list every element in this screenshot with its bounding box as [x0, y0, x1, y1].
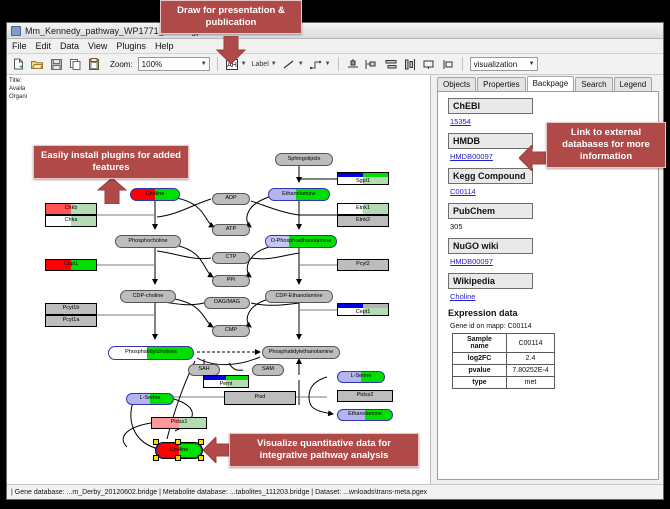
node-label: Phosphatidylcholines	[125, 350, 177, 356]
menu-data[interactable]: Data	[60, 41, 79, 51]
align-top-icon[interactable]	[346, 57, 360, 71]
menu-view[interactable]: View	[88, 41, 107, 51]
node-label: Chka	[65, 218, 78, 224]
metabolite-node-l-serine[interactable]: L-Serine	[337, 371, 385, 383]
metabolite-node-choline[interactable]: Choline	[130, 188, 180, 201]
tab-search[interactable]: Search	[575, 77, 612, 91]
table-row: typemet	[453, 377, 555, 389]
node-label: CTP	[226, 255, 237, 261]
expression-value: met	[507, 377, 555, 389]
visualization-value: visualization	[474, 60, 518, 69]
metabolite-node-adp[interactable]: ADP	[212, 193, 250, 205]
node-label: Phosphatidylethanolamine	[269, 350, 334, 356]
database-value-kegg-compound[interactable]: C00114	[450, 187, 658, 196]
node-label: Pcyt2	[356, 262, 370, 268]
metabolite-node-o-phosphoethanolamine[interactable]: O-Phosphoethanolamine	[265, 235, 337, 248]
callout-external-links: Link to external databases for more info…	[546, 122, 666, 168]
menu-file[interactable]: File	[12, 41, 27, 51]
metabolite-node-ppi[interactable]: PPi	[212, 275, 250, 287]
align-left-icon[interactable]	[365, 57, 379, 71]
line-tool-dropdown-icon[interactable]: ▼	[298, 61, 304, 67]
expression-value: C00114	[507, 334, 555, 353]
label-tool-label[interactable]: Label	[252, 61, 269, 68]
node-label: Sgpl1	[356, 179, 370, 185]
node-label: Chkb	[65, 206, 78, 212]
database-header-chebi: ChEBI	[448, 98, 533, 114]
node-label: Cept1	[356, 310, 371, 316]
node-label: O-Phosphoethanolamine	[271, 239, 332, 245]
table-row: log2FC2.4	[453, 353, 555, 365]
node-label: Sphingolipids	[288, 157, 321, 163]
metabolite-node-sphingolipids[interactable]: Sphingolipids	[275, 153, 333, 166]
database-header-nugo-wiki: NuGO wiki	[448, 238, 533, 254]
zoom-combobox[interactable]: 100% ▼	[138, 57, 210, 71]
visualization-combobox[interactable]: visualization ▼	[470, 57, 538, 71]
expression-data-heading: Expression data	[448, 308, 658, 318]
gene-node-etnk1[interactable]: Etnk1	[337, 203, 389, 215]
gene-node-chka[interactable]: Chka	[45, 215, 97, 227]
node-label: CDP-Ethanolamine	[275, 294, 322, 300]
zoom-value: 100%	[142, 60, 162, 69]
tab-properties[interactable]: Properties	[477, 77, 525, 91]
meta-label-availab: Availa	[9, 85, 27, 93]
open-folder-icon[interactable]	[30, 57, 44, 71]
status-bar: | Gene database: ...m_Derby_20120602.bri…	[7, 484, 663, 499]
menu-plugins[interactable]: Plugins	[116, 41, 146, 51]
selection-handle[interactable]	[153, 439, 159, 445]
expression-value: 7.80252E-4	[507, 365, 555, 377]
tab-backpage[interactable]: Backpage	[527, 76, 575, 91]
node-label: Pisd	[255, 395, 266, 401]
node-label: Ethanolamine	[282, 192, 316, 198]
gene-node-chpt1[interactable]: Chpt1	[45, 259, 97, 271]
callout-plugins: Easily install plugins for added feature…	[33, 145, 189, 179]
table-row: Sample nameC00114	[453, 334, 555, 353]
node-label: Choline	[146, 192, 165, 198]
tab-legend[interactable]: Legend	[614, 77, 653, 91]
menu-help[interactable]: Help	[155, 41, 174, 51]
gene-node-cept1[interactable]: Cept1	[337, 303, 389, 316]
callout-draw-publication: Draw for presentation & publication	[160, 0, 302, 34]
metabolite-node-ethanolamine[interactable]: Ethanolamine	[337, 409, 393, 421]
metabolite-node-ctp[interactable]: CTP	[212, 252, 250, 264]
metabolite-node-cmp[interactable]: CMP	[212, 325, 250, 337]
metabolite-node-dag-mag[interactable]: DAG/MAG	[204, 297, 250, 309]
expression-data-table: Sample nameC00114log2FC2.4pvalue7.80252E…	[452, 333, 555, 389]
zoom-label: Zoom:	[110, 60, 133, 69]
expression-key: Sample name	[453, 334, 507, 353]
selection-handle[interactable]	[175, 439, 181, 445]
gene-node-databar	[204, 376, 248, 380]
copy-icon[interactable]	[68, 57, 82, 71]
gene-node-databar	[338, 304, 388, 308]
node-label: SAH	[198, 367, 209, 373]
callout-visualize: Visualize quantitative data for integrat…	[229, 433, 419, 467]
meta-label-title: Title:	[9, 77, 27, 85]
connector-tool-icon[interactable]	[309, 57, 323, 71]
metabolite-node-phosphatidylethanolamine[interactable]: Phosphatidylethanolamine	[262, 346, 340, 359]
callout-plugins-arrow	[97, 178, 127, 209]
tab-objects[interactable]: Objects	[437, 77, 476, 91]
gene-node-etnk2[interactable]: Etnk2	[337, 215, 389, 227]
node-label: Etnk2	[356, 218, 370, 224]
metabolite-node-l-serine[interactable]: L-Serine	[126, 393, 174, 405]
gene-id-on-mapp: Gene id on mapp: C00114	[450, 323, 658, 330]
menu-edit[interactable]: Edit	[36, 41, 52, 51]
metabolite-node-atp[interactable]: ATP	[212, 224, 250, 236]
gene-node-ptdss1[interactable]: Ptdss1	[151, 417, 207, 429]
metabolite-node-sam[interactable]: SAM	[252, 364, 284, 376]
application-window: Mm_Kennedy_pathway_WP1771_45176.gpml Fil…	[6, 22, 664, 500]
node-label: ADP	[225, 196, 236, 202]
gene-node-pcyt1b[interactable]: Pcyt1b	[45, 303, 97, 315]
database-value-pubchem: 305	[450, 222, 658, 231]
node-label: SAM	[262, 367, 274, 373]
database-value-nugo-wiki[interactable]: HMDB00097	[450, 257, 658, 266]
database-header-pubchem: PubChem	[448, 203, 533, 219]
node-label: CDP-choline	[133, 294, 164, 300]
expression-key: log2FC	[453, 353, 507, 365]
pathway-meta-labels: Title: Availa Organi	[9, 77, 27, 101]
database-header-wikipedia: Wikipedia	[448, 273, 533, 289]
status-text: | Gene database: ...m_Derby_20120602.bri…	[11, 489, 427, 496]
label-tool-dropdown-icon[interactable]: ▼	[271, 61, 277, 67]
database-value-wikipedia[interactable]: Choline	[450, 292, 658, 301]
toolbar-separator-3	[462, 57, 463, 71]
node-label: Phosphocholine	[128, 239, 167, 245]
callout-external-links-arrow	[519, 145, 549, 176]
node-label: ATP	[226, 227, 236, 233]
chevron-down-icon-2: ▼	[529, 61, 535, 67]
expression-value: 2.4	[507, 353, 555, 365]
node-label: L-Serine	[351, 374, 372, 380]
node-label: CMP	[225, 328, 237, 334]
gene-node-pisd[interactable]: Pisd	[224, 391, 296, 405]
metabolite-node-cdp-choline[interactable]: CDP-choline	[120, 290, 176, 303]
selection-handle[interactable]	[175, 455, 181, 461]
node-label: Pcyt1a	[63, 318, 80, 324]
gene-node-ptdss2[interactable]: Ptdss2	[337, 390, 393, 402]
node-label: DAG/MAG	[214, 300, 240, 306]
expression-key: type	[453, 377, 507, 389]
gene-node-sgpl1[interactable]: Sgpl1	[337, 172, 389, 185]
paste-icon[interactable]	[87, 57, 101, 71]
line-tool-icon[interactable]	[282, 57, 296, 71]
gene-node-pemt[interactable]: Pemt	[203, 375, 249, 388]
node-label: Chpt1	[64, 262, 79, 268]
metabolite-node-ethanolamine[interactable]: Ethanolamine	[268, 188, 330, 201]
metabolite-node-phosphocholine[interactable]: Phosphocholine	[115, 235, 181, 248]
title-bar: Mm_Kennedy_pathway_WP1771_45176.gpml	[7, 23, 663, 39]
stack-icon[interactable]	[441, 57, 455, 71]
gene-node-pcyt2[interactable]: Pcyt2	[337, 259, 389, 271]
new-file-icon[interactable]	[11, 57, 25, 71]
node-label: L-Serine	[140, 396, 161, 402]
callout-draw-arrow	[216, 36, 246, 69]
metabolite-node-phosphatidylcholines[interactable]: Phosphatidylcholines	[108, 346, 194, 360]
node-label: PPi	[227, 278, 236, 284]
metabolite-node-cdp-ethanolamine[interactable]: CDP-Ethanolamine	[265, 290, 333, 303]
menu-bar: File Edit Data View Plugins Help	[7, 39, 663, 54]
pathway-canvas[interactable]: Title: Availa Organi	[7, 75, 431, 484]
app-icon	[11, 26, 21, 36]
tool-bar: Zoom: 100% ▼ AH ▼ Label ▼ ▼ ▼	[7, 54, 663, 75]
chevron-down-icon: ▼	[201, 61, 207, 67]
gene-node-databar	[338, 173, 388, 177]
distribute-vertical-icon[interactable]	[384, 57, 398, 71]
gene-node-pcyt1a[interactable]: Pcyt1a	[45, 315, 97, 327]
save-icon[interactable]	[49, 57, 63, 71]
gene-node-chkb[interactable]: Chkb	[45, 203, 97, 215]
node-label: Ethanolamine	[348, 412, 382, 418]
selection-handle[interactable]	[153, 455, 159, 461]
node-label: Choline	[170, 448, 189, 454]
node-label: Pemt	[220, 382, 233, 388]
node-label: Etnk1	[356, 206, 370, 212]
toolbar-separator-2	[338, 57, 339, 71]
expression-key: pvalue	[453, 365, 507, 377]
side-panel-tabs: Objects Properties Backpage Search Legen…	[431, 75, 663, 91]
meta-label-organism: Organi	[9, 93, 27, 101]
connector-tool-dropdown-icon[interactable]: ▼	[325, 61, 331, 67]
node-label: Pcyt1b	[63, 306, 80, 312]
group-icon[interactable]	[422, 57, 436, 71]
node-label: Ptdss1	[171, 420, 188, 426]
table-row: pvalue7.80252E-4	[453, 365, 555, 377]
node-label: Ptdss2	[357, 393, 374, 399]
distribute-horizontal-icon[interactable]	[403, 57, 417, 71]
